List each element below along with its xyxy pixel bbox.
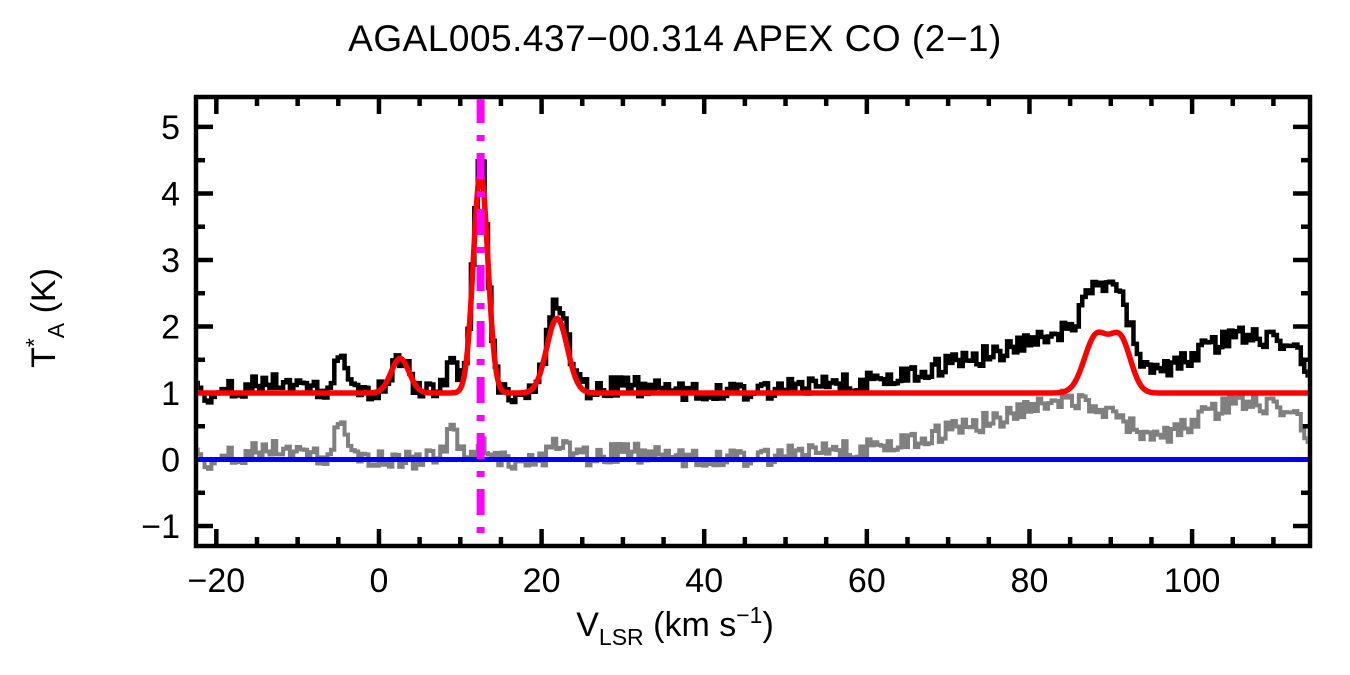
- svg-text:T*A (K): T*A (K): [21, 268, 69, 368]
- y-tick-label: 2: [161, 308, 180, 346]
- x-tick-label: 40: [685, 562, 723, 600]
- y-tick-label: 1: [161, 375, 180, 413]
- x-tick-label: 60: [848, 562, 886, 600]
- svg-text:VLSR (km s−1): VLSR (km s−1): [576, 602, 774, 650]
- spectrum-plot: −20020406080100 543210−1 VLSR (km s−1) T…: [0, 0, 1350, 675]
- x-tick-label: 0: [369, 562, 388, 600]
- y-tick-label: −1: [141, 508, 180, 546]
- x-axis-tick-labels: −20020406080100: [187, 562, 1220, 600]
- y-tick-label: 5: [161, 109, 180, 147]
- spectrum-series: [194, 161, 1311, 402]
- x-tick-label: 80: [1011, 562, 1049, 600]
- plot-border: [196, 97, 1310, 546]
- y-tick-label: 4: [161, 175, 180, 213]
- y-axis-title: T*A (K): [21, 268, 69, 368]
- x-axis-title: VLSR (km s−1): [576, 602, 774, 650]
- x-tick-label: −20: [187, 562, 245, 600]
- figure-canvas: AGAL005.437−00.314 APEX CO (2−1) −200204…: [0, 0, 1350, 675]
- spectrum-trace: [194, 161, 1311, 402]
- x-tick-label: 100: [1164, 562, 1221, 600]
- plot-frame: [196, 97, 1310, 546]
- x-tick-label: 20: [523, 562, 561, 600]
- y-axis-tick-labels: 543210−1: [141, 109, 180, 546]
- y-tick-label: 3: [161, 242, 180, 280]
- y-tick-label: 0: [161, 442, 180, 480]
